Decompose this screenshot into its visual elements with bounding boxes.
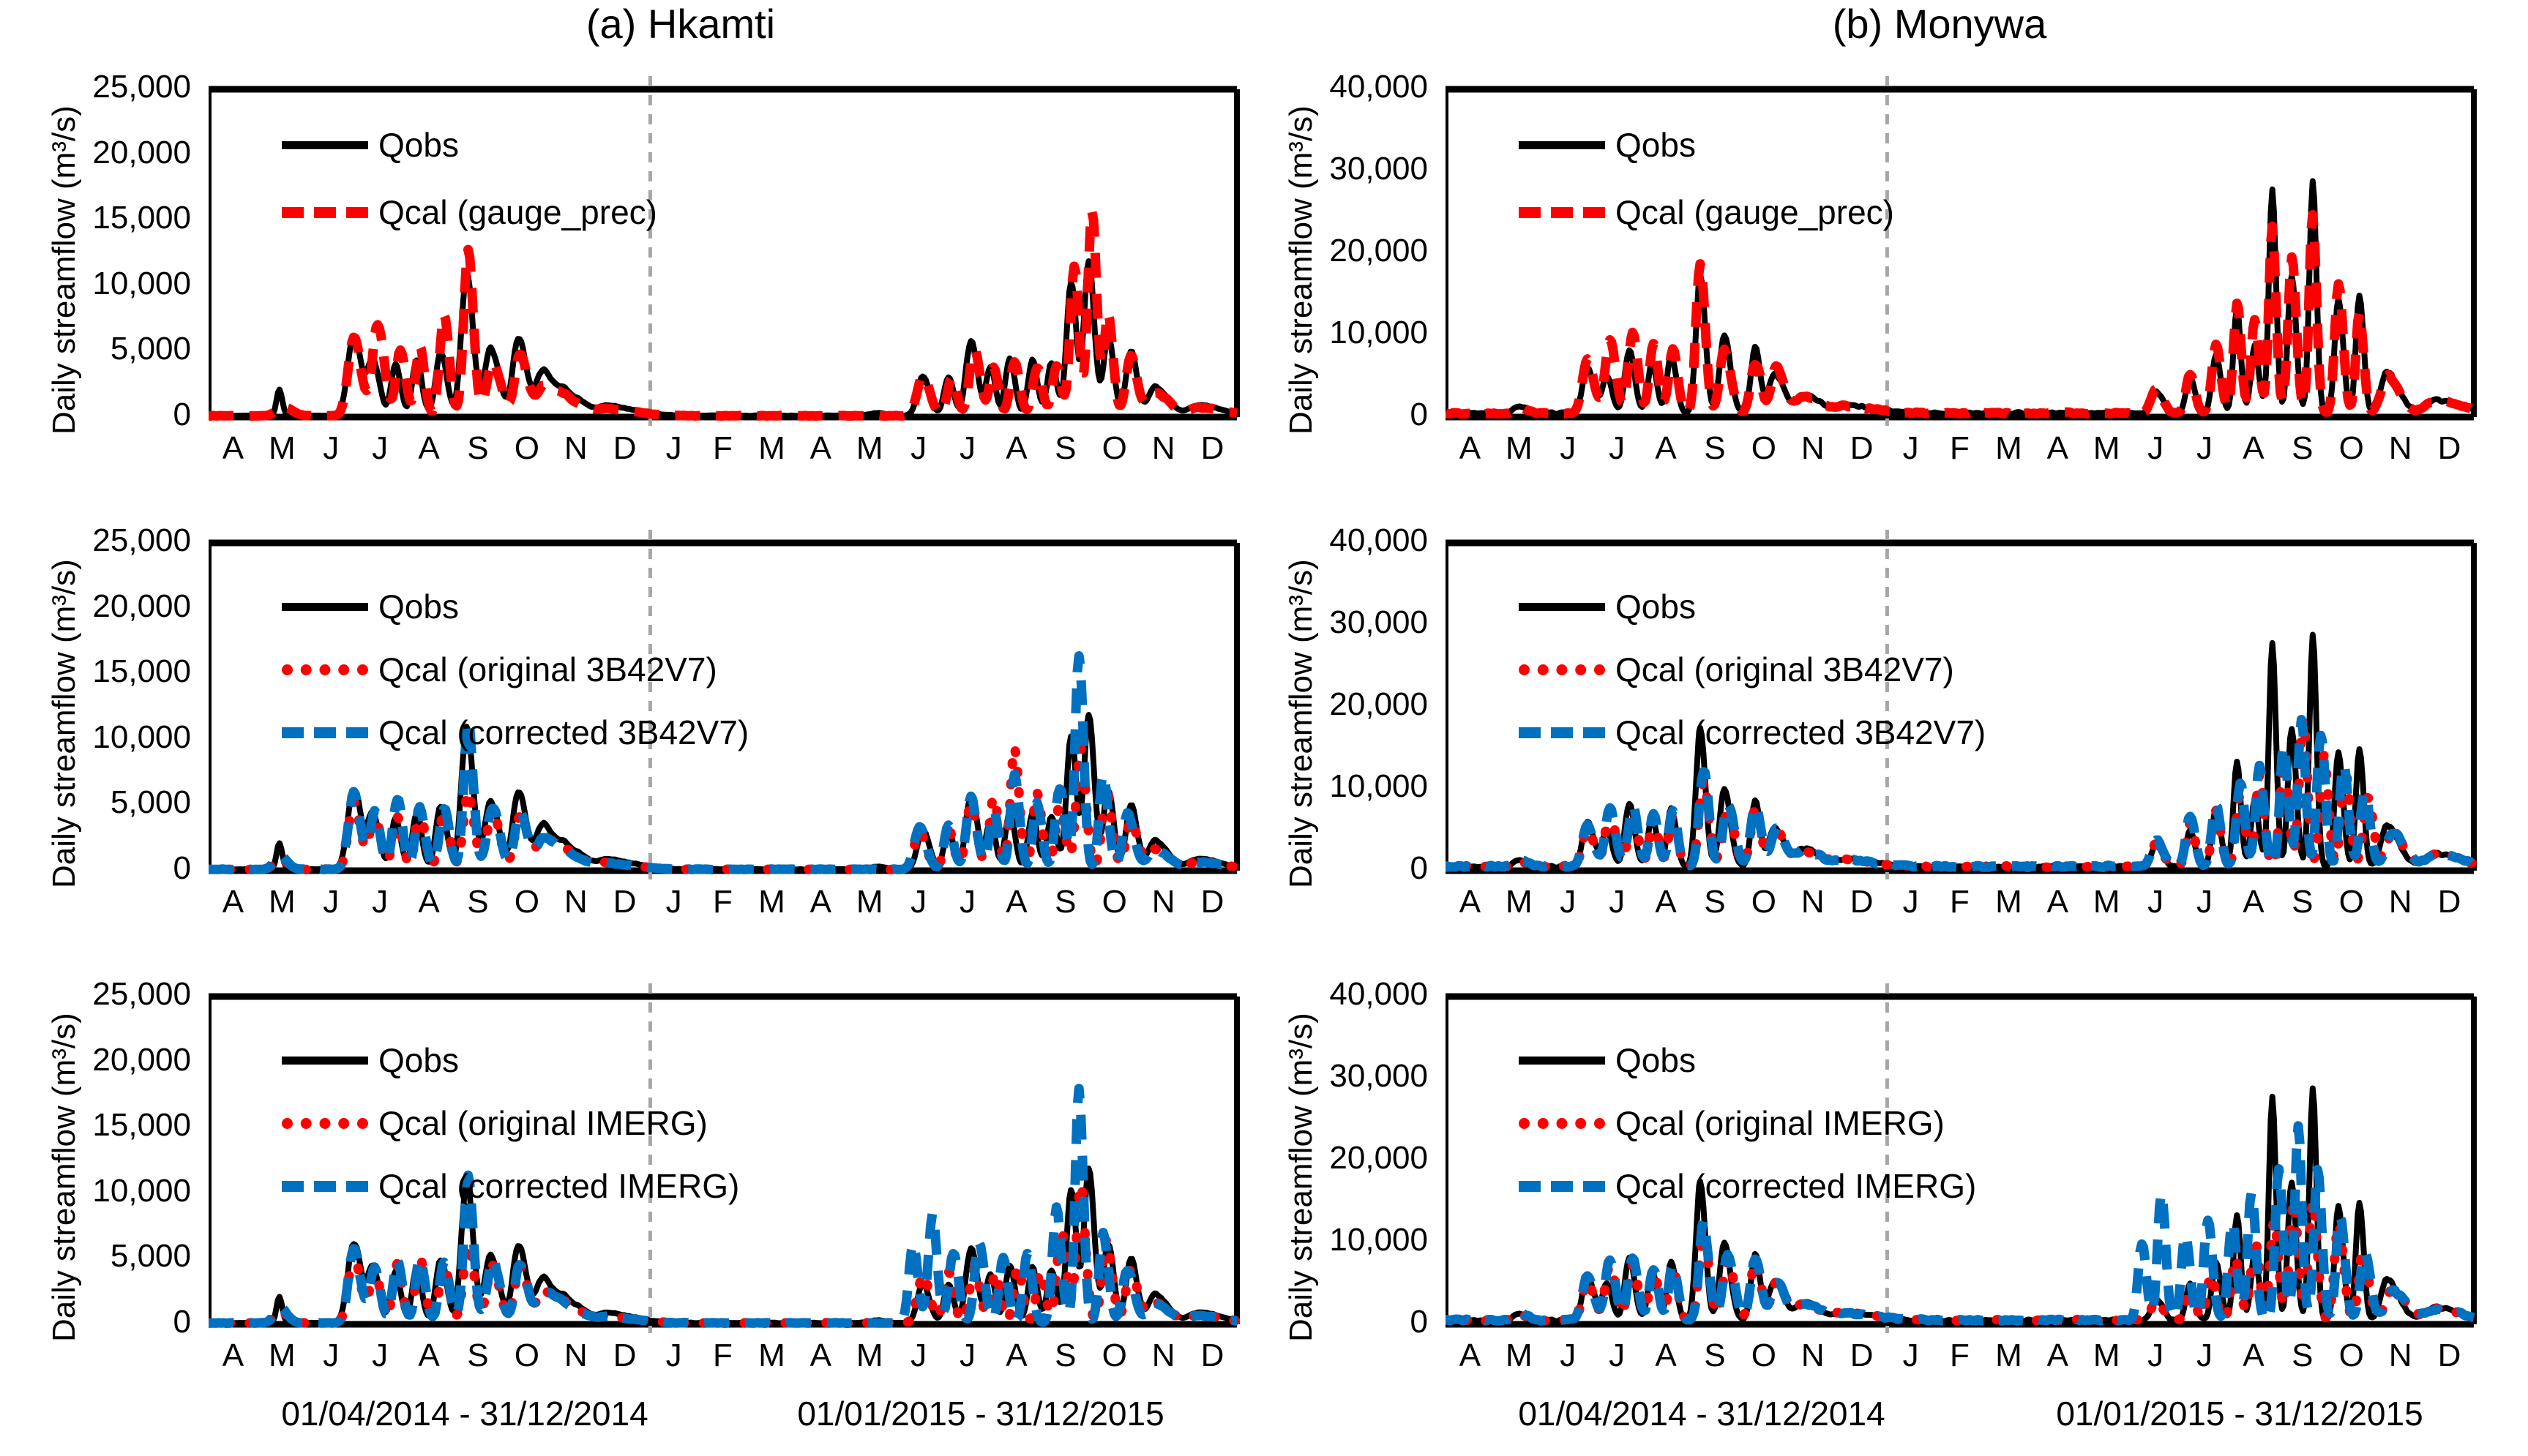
legend-swatch-solid-icon <box>282 603 368 611</box>
legend-label: Qcal (corrected IMERG) <box>378 1166 739 1206</box>
legend-item[interactable]: Qcal (corrected 3B42V7) <box>1519 701 1986 764</box>
y-tick-label: 25,000 <box>81 69 191 105</box>
y-tick-label: 20,000 <box>1318 1140 1428 1177</box>
legend-swatch-dashed-icon <box>1519 207 1605 218</box>
x-tick-label: D <box>1183 1337 1242 1374</box>
legend-item[interactable]: Qcal (corrected 3B42V7) <box>282 701 749 764</box>
legend-label: Qcal (corrected IMERG) <box>1615 1166 1976 1206</box>
period-label-left-2014: 01/04/2014 - 31/12/2014 <box>209 1394 721 1433</box>
y-tick-label: 30,000 <box>1318 151 1428 187</box>
legend-label: Qcal (corrected 3B42V7) <box>378 713 749 752</box>
column-title-a: (a) Hkamti <box>351 0 1010 48</box>
y-axis-title: Daily streamflow (m³/s) <box>1283 105 1320 435</box>
legend-swatch-dotted-icon <box>282 1118 368 1129</box>
chart-panel-hkamti-gauge: Daily streamflow (m³/s)25,00020,00015,00… <box>40 70 1259 500</box>
legend-label: Qcal (original 3B42V7) <box>1615 650 1954 689</box>
legend-item[interactable]: Qcal (gauge_prec) <box>1519 179 1894 246</box>
y-tick-label: 0 <box>81 1304 191 1340</box>
y-tick-label: 10,000 <box>1318 1222 1428 1258</box>
period-label-right-2014: 01/04/2014 - 31/12/2014 <box>1446 1394 1958 1433</box>
y-axis-title: Daily streamflow (m³/s) <box>46 559 83 888</box>
chart-panel-monywa-imerg: Daily streamflow (m³/s)40,00030,00020,00… <box>1277 977 2496 1408</box>
y-tick-label: 20,000 <box>81 1042 191 1078</box>
x-tick-label: D <box>1183 430 1242 467</box>
legend-label: Qobs <box>378 1040 459 1080</box>
y-tick-label: 0 <box>1318 850 1428 887</box>
legend-item[interactable]: Qcal (original 3B42V7) <box>1519 638 1986 701</box>
legend-swatch-dashed-icon <box>282 727 368 738</box>
y-tick-label: 15,000 <box>81 200 191 236</box>
y-tick-label: 10,000 <box>81 1173 191 1209</box>
legend-label: Qcal (corrected 3B42V7) <box>1615 713 1986 752</box>
y-tick-label: 40,000 <box>1318 522 1428 559</box>
y-tick-label: 10,000 <box>81 266 191 302</box>
x-tick-label: D <box>1183 884 1242 920</box>
legend-label: Qcal (original 3B42V7) <box>378 650 717 689</box>
x-tick-label: D <box>2420 1337 2479 1374</box>
legend-label: Qobs <box>378 125 459 165</box>
y-tick-label: 5,000 <box>81 784 191 821</box>
y-tick-label: 0 <box>81 850 191 887</box>
x-tick-label: D <box>2420 430 2479 467</box>
legend-swatch-dashed-icon <box>282 1181 368 1192</box>
legend-item[interactable]: Qcal (original IMERG) <box>1519 1092 1976 1155</box>
x-tick-label: D <box>2420 884 2479 920</box>
legend-swatch-solid-icon <box>282 1057 368 1065</box>
legend-item[interactable]: Qobs <box>1519 575 1986 638</box>
y-tick-label: 20,000 <box>1318 233 1428 269</box>
legend-hkamti-3b42v7: QobsQcal (original 3B42V7)Qcal (correcte… <box>282 575 749 764</box>
legend-swatch-dashed-icon <box>1519 727 1605 738</box>
legend-label: Qobs <box>1615 587 1696 626</box>
legend-item[interactable]: Qobs <box>282 575 749 638</box>
y-tick-label: 25,000 <box>81 522 191 559</box>
y-tick-label: 5,000 <box>81 331 191 367</box>
legend-label: Qobs <box>1615 1040 1696 1080</box>
legend-swatch-solid-icon <box>282 141 368 149</box>
period-label-right-2015: 01/01/2015 - 31/12/2015 <box>1962 1394 2518 1433</box>
y-tick-label: 30,000 <box>1318 1058 1428 1095</box>
legend-monywa-3b42v7: QobsQcal (original 3B42V7)Qcal (correcte… <box>1519 575 1986 764</box>
legend-item[interactable]: Qcal (original IMERG) <box>282 1092 739 1155</box>
legend-monywa-gauge: QobsQcal (gauge_prec) <box>1519 111 1894 246</box>
y-tick-label: 0 <box>1318 1304 1428 1340</box>
legend-swatch-solid-icon <box>1519 141 1605 149</box>
y-tick-label: 10,000 <box>1318 315 1428 351</box>
y-axis-title: Daily streamflow (m³/s) <box>1283 1013 1320 1342</box>
y-tick-label: 0 <box>1318 397 1428 433</box>
y-tick-label: 30,000 <box>1318 604 1428 641</box>
legend-swatch-solid-icon <box>1519 1057 1605 1065</box>
y-axis-title: Daily streamflow (m³/s) <box>46 1013 83 1342</box>
legend-item[interactable]: Qcal (corrected IMERG) <box>282 1155 739 1217</box>
y-tick-label: 5,000 <box>81 1238 191 1275</box>
legend-swatch-dashed-icon <box>282 207 368 218</box>
legend-label: Qcal (original IMERG) <box>378 1103 708 1143</box>
y-tick-label: 20,000 <box>81 135 191 171</box>
legend-swatch-dotted-icon <box>1519 664 1605 675</box>
y-tick-label: 10,000 <box>1318 768 1428 805</box>
legend-hkamti-imerg: QobsQcal (original IMERG)Qcal (corrected… <box>282 1029 739 1217</box>
y-tick-label: 15,000 <box>81 653 191 690</box>
legend-item[interactable]: Qobs <box>1519 111 1894 179</box>
legend-label: Qcal (gauge_prec) <box>378 192 657 232</box>
y-tick-label: 25,000 <box>81 976 191 1013</box>
y-tick-label: 40,000 <box>1318 976 1428 1013</box>
legend-item[interactable]: Qobs <box>282 1029 739 1092</box>
y-tick-label: 40,000 <box>1318 69 1428 105</box>
y-tick-label: 20,000 <box>1318 686 1428 723</box>
period-label-left-2015: 01/01/2015 - 31/12/2015 <box>725 1394 1237 1433</box>
chart-panel-hkamti-imerg: Daily streamflow (m³/s)25,00020,00015,00… <box>40 977 1259 1408</box>
legend-hkamti-gauge: QobsQcal (gauge_prec) <box>282 111 657 246</box>
chart-panel-hkamti-3b42v7: Daily streamflow (m³/s)25,00020,00015,00… <box>40 524 1259 954</box>
chart-panel-monywa-3b42v7: Daily streamflow (m³/s)40,00030,00020,00… <box>1277 524 2496 954</box>
legend-monywa-imerg: QobsQcal (original IMERG)Qcal (corrected… <box>1519 1029 1976 1217</box>
legend-swatch-dotted-icon <box>282 664 368 675</box>
legend-item[interactable]: Qobs <box>282 111 657 179</box>
legend-label: Qobs <box>1615 125 1696 165</box>
legend-swatch-dotted-icon <box>1519 1118 1605 1129</box>
y-axis-title: Daily streamflow (m³/s) <box>46 105 83 435</box>
chart-panel-monywa-gauge: Daily streamflow (m³/s)40,00030,00020,00… <box>1277 70 2496 500</box>
y-tick-label: 0 <box>81 397 191 433</box>
y-tick-label: 15,000 <box>81 1107 191 1144</box>
legend-item[interactable]: Qcal (corrected IMERG) <box>1519 1155 1976 1217</box>
legend-label: Qcal (original IMERG) <box>1615 1103 1945 1143</box>
figure-root: (a) Hkamti (b) Monywa Daily streamflow (… <box>0 0 2528 1456</box>
y-tick-label: 20,000 <box>81 588 191 625</box>
legend-item[interactable]: Qobs <box>1519 1029 1976 1092</box>
legend-item[interactable]: Qcal (original 3B42V7) <box>282 638 749 701</box>
column-title-b: (b) Monywa <box>1610 0 2269 48</box>
y-axis-title: Daily streamflow (m³/s) <box>1283 559 1320 888</box>
y-tick-label: 10,000 <box>81 719 191 756</box>
legend-label: Qobs <box>378 587 459 626</box>
legend-swatch-solid-icon <box>1519 603 1605 611</box>
legend-item[interactable]: Qcal (gauge_prec) <box>282 179 657 246</box>
legend-swatch-dashed-icon <box>1519 1181 1605 1192</box>
legend-label: Qcal (gauge_prec) <box>1615 192 1894 232</box>
